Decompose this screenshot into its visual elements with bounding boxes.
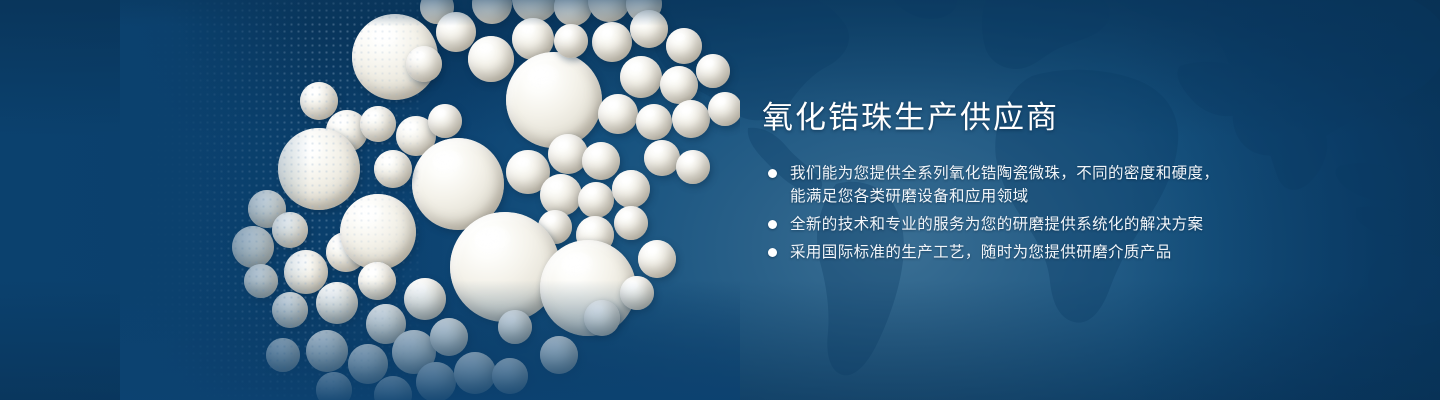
bullet-dot-icon xyxy=(768,248,777,257)
feature-3-line-1: 采用国际标准的生产工艺，随时为您提供研磨介质产品 xyxy=(790,241,1402,264)
banner-feature-list: 我们能为您提供全系列氧化锆陶瓷微珠，不同的密度和硬度， 能满足您各类研磨设备和应… xyxy=(762,162,1402,264)
feature-1-line-1: 我们能为您提供全系列氧化锆陶瓷微珠，不同的密度和硬度， xyxy=(790,162,1402,185)
bullet-dot-icon xyxy=(768,220,777,229)
bullet-dot-icon xyxy=(768,169,777,178)
hero-banner: 氧化锆珠生产供应商 我们能为您提供全系列氧化锆陶瓷微珠，不同的密度和硬度， 能满… xyxy=(0,0,1440,400)
feature-1-line-2: 能满足您各类研磨设备和应用领域 xyxy=(790,185,1402,208)
feature-item-1: 我们能为您提供全系列氧化锆陶瓷微珠，不同的密度和硬度， 能满足您各类研磨设备和应… xyxy=(762,162,1402,208)
feature-item-3: 采用国际标准的生产工艺，随时为您提供研磨介质产品 xyxy=(762,241,1402,264)
feature-item-2: 全新的技术和专业的服务为您的研磨提供系统化的解决方案 xyxy=(762,213,1402,236)
banner-content: 氧化锆珠生产供应商 我们能为您提供全系列氧化锆陶瓷微珠，不同的密度和硬度， 能满… xyxy=(762,100,1402,264)
banner-headline: 氧化锆珠生产供应商 xyxy=(762,100,1402,136)
feature-2-line-1: 全新的技术和专业的服务为您的研磨提供系统化的解决方案 xyxy=(790,213,1402,236)
bead-cluster xyxy=(120,0,740,400)
zirconia-beads-image xyxy=(120,0,740,400)
